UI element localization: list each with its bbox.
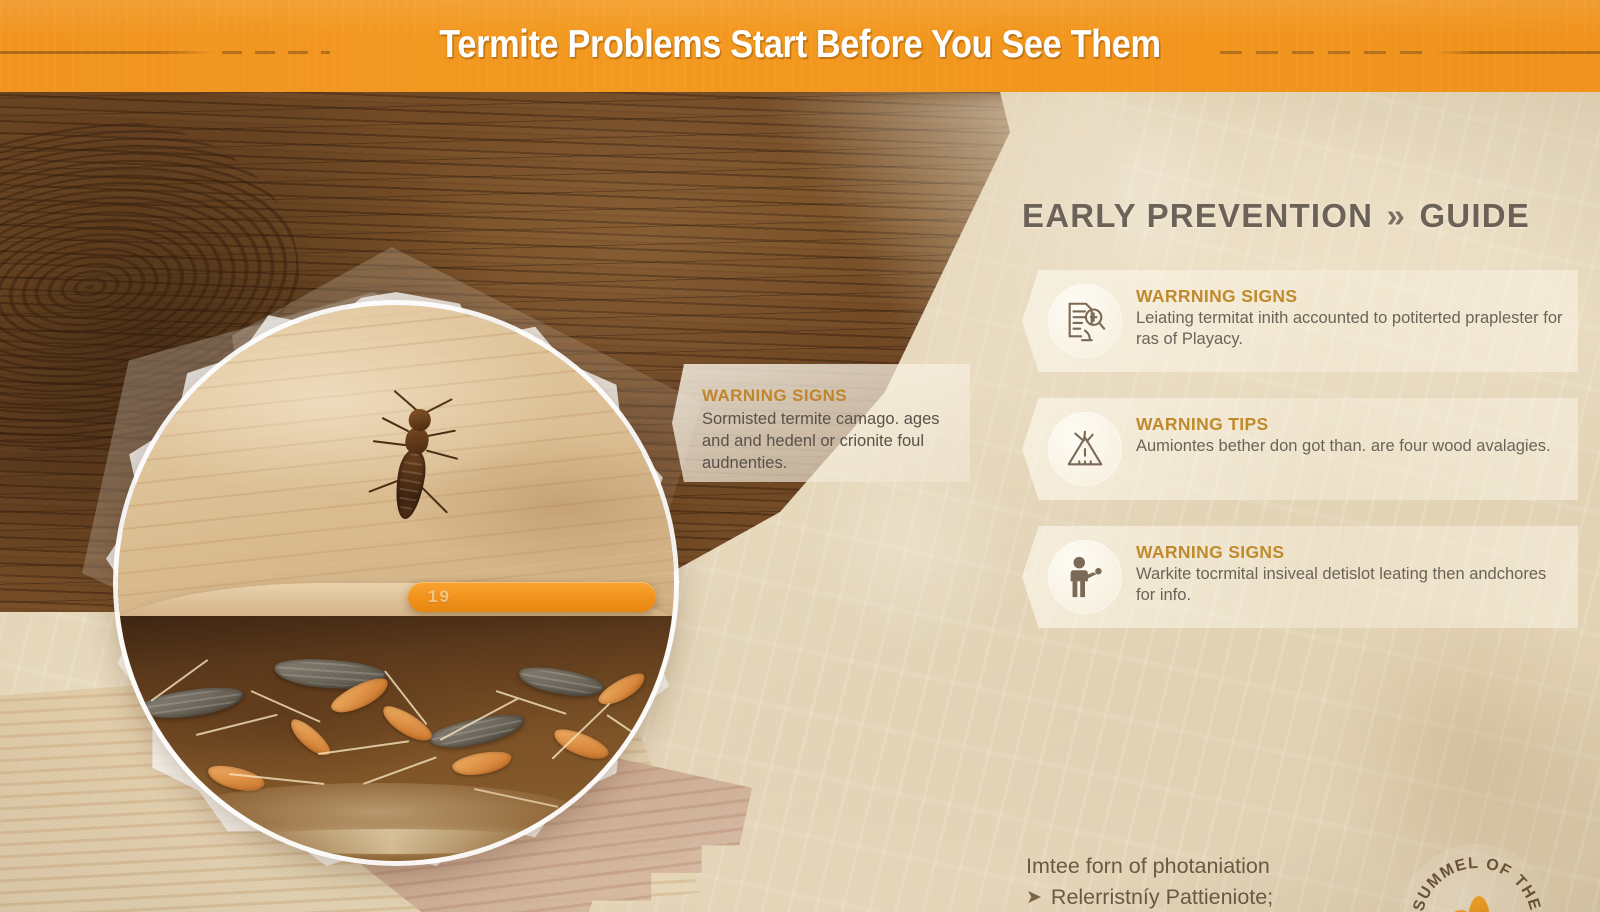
warning-card-text: WARNING TIPS Aumiontes bether don got th… [1136, 412, 1564, 457]
termite-seal-icon [1444, 892, 1510, 912]
bottom-note-heading: Imtee forn of photaniation [1026, 852, 1386, 881]
termite-icon [351, 369, 495, 546]
section-heading: EARLY PREVENTION » GUIDE [1022, 197, 1530, 235]
arrow-right-icon: ➤ [1026, 888, 1042, 907]
warning-card[interactable]: WARNING SIGNS Warkite tocrmital insiveal… [1022, 526, 1578, 628]
infographic-poster: Termite Problems Start Before You See Th… [0, 0, 1600, 912]
warning-card-body: Aumiontes bether don got than. are four … [1136, 436, 1564, 457]
photo-collage: 19 [82, 187, 702, 877]
photo-badge-label: 19 [428, 587, 451, 607]
header-rule-right-solid [1435, 51, 1600, 54]
callout-title: WARNING SIGNS [702, 386, 952, 406]
warning-card-body: Leiating termitat inith accounted to pot… [1136, 308, 1564, 351]
warning-card-text: WARRNING SIGNS Leiating termitat inith a… [1136, 284, 1564, 351]
list-item: ➤ Relerristníy Pattieniote; [1026, 883, 1386, 912]
header-rule-left-solid [0, 51, 215, 54]
warning-card-title: WARRNING SIGNS [1136, 286, 1564, 307]
section-heading-before: EARLY PREVENTION [1022, 197, 1373, 234]
warning-card-title: WARNING TIPS [1136, 414, 1564, 435]
termite-seal-badge: SUMMEL OF THE DIADLIISTEMDOK · INIS [1398, 844, 1556, 912]
document-magnifier-icon [1048, 284, 1122, 358]
warning-card-body: Warkite tocrmital insiveal detislot leat… [1136, 564, 1564, 607]
termite-abdomen [391, 448, 429, 521]
warning-card-list: WARRNING SIGNS Leiating termitat inith a… [1022, 270, 1578, 654]
warning-triangle-icon [1048, 412, 1122, 486]
callout-body: Sormisted termite camago. ages and and h… [702, 409, 952, 474]
poster-body: 19 WARNING SIGNS Sormisted termite camag… [0, 92, 1600, 912]
warning-signs-callout: WARNING SIGNS Sormisted termite camago. … [672, 364, 970, 482]
list-item-label: Relerristníy Pattieniote; [1051, 883, 1273, 912]
inspector-person-icon [1048, 540, 1122, 614]
warning-card[interactable]: WARRNING SIGNS Leiating termitat inith a… [1022, 270, 1578, 372]
warning-card[interactable]: WARNING TIPS Aumiontes bether don got th… [1022, 398, 1578, 500]
header-rule-right-dashes [1220, 51, 1430, 54]
page-title: Termite Problems Start Before You See Th… [96, 23, 1504, 67]
chevron-double-right-icon: » [1384, 197, 1410, 234]
header-rule-right [1220, 51, 1600, 54]
termite-nest-icon [118, 616, 674, 861]
warning-card-title: WARNING SIGNS [1136, 542, 1564, 563]
bottom-note-list: Imtee forn of photaniation ➤ Relerristní… [1026, 852, 1386, 912]
warning-card-text: WARNING SIGNS Warkite tocrmital insiveal… [1136, 540, 1564, 607]
section-heading-after: GUIDE [1419, 197, 1530, 234]
photo-badge: 19 [408, 582, 656, 612]
header-rule-left [0, 51, 330, 54]
header-bar: Termite Problems Start Before You See Th… [0, 0, 1600, 92]
background-termite-blur [229, 829, 551, 853]
header-rule-left-dashes [222, 51, 330, 54]
